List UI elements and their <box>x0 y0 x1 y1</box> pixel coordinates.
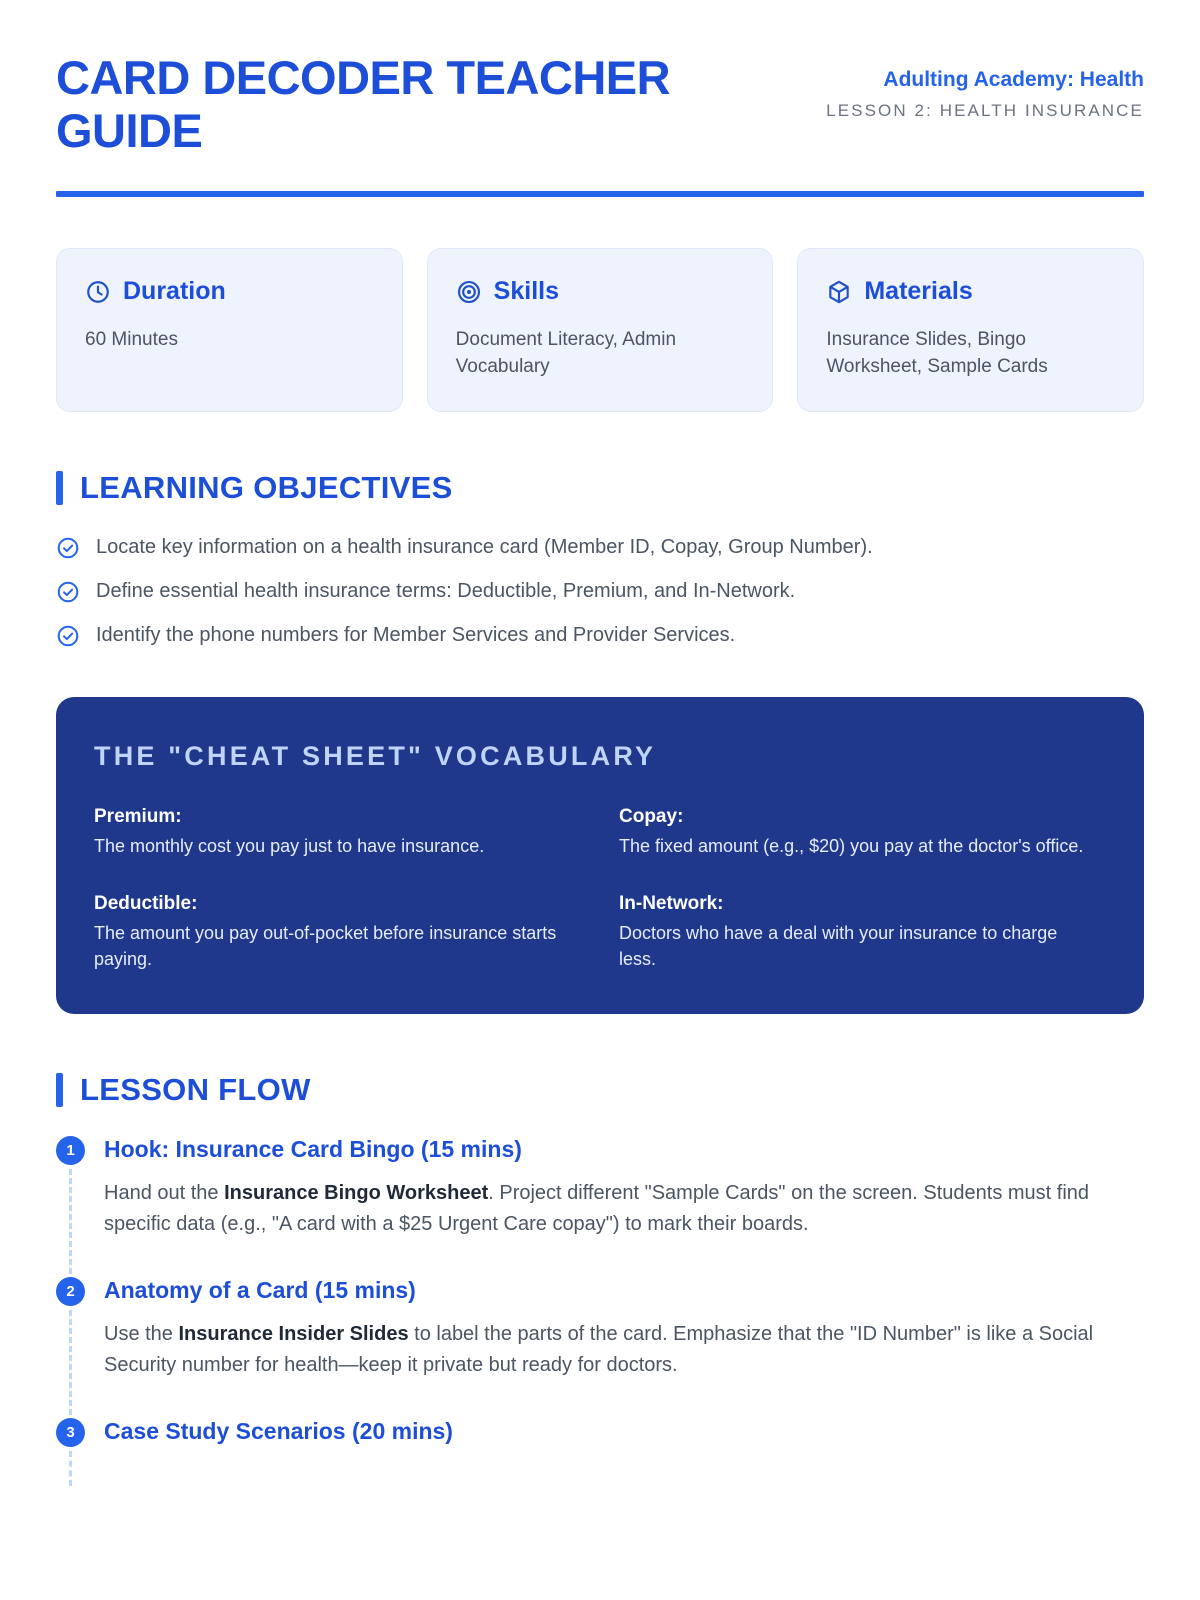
vocabulary-entry: Premium: The monthly cost you pay just t… <box>94 806 581 859</box>
vocabulary-title: THE "CHEAT SHEET" VOCABULARY <box>94 741 1106 772</box>
info-card-header: Skills <box>456 277 745 306</box>
section-title: LESSON FLOW <box>80 1072 311 1108</box>
package-icon <box>826 279 852 305</box>
info-card-header: Materials <box>826 277 1115 306</box>
vocabulary-definition: Doctors who have a deal with your insura… <box>619 920 1089 972</box>
title-block: CARD DECODER TEACHER GUIDE <box>56 52 756 157</box>
list-item: Define essential health insurance terms:… <box>56 578 1144 605</box>
section-accent-bar <box>56 471 63 505</box>
vocabulary-card: THE "CHEAT SHEET" VOCABULARY Premium: Th… <box>56 697 1144 1014</box>
vocabulary-term: Premium: <box>94 806 581 828</box>
target-icon <box>456 279 482 305</box>
step-body: Use the Insurance Insider Slides to labe… <box>104 1319 1144 1381</box>
vocabulary-entry: Copay: The fixed amount (e.g., $20) you … <box>619 806 1106 859</box>
check-circle-icon <box>56 624 80 648</box>
flow-step: 1 Hook: Insurance Card Bingo (15 mins) H… <box>56 1135 1144 1276</box>
vocabulary-term: Copay: <box>619 806 1106 828</box>
vocabulary-grid: Premium: The monthly cost you pay just t… <box>94 806 1106 972</box>
step-connector-line <box>69 1310 72 1415</box>
vocabulary-definition: The monthly cost you pay just to have in… <box>94 833 564 859</box>
objectives-list: Locate key information on a health insur… <box>56 534 1144 649</box>
vocabulary-term: Deductible: <box>94 893 581 915</box>
objective-text: Define essential health insurance terms:… <box>96 578 795 605</box>
vocabulary-entry: In-Network: Doctors who have a deal with… <box>619 893 1106 972</box>
step-body: Hand out the Insurance Bingo Worksheet. … <box>104 1178 1144 1240</box>
page-header: CARD DECODER TEACHER GUIDE Adulting Acad… <box>56 52 1144 157</box>
step-title: Case Study Scenarios (20 mins) <box>104 1417 1144 1446</box>
objective-text: Locate key information on a health insur… <box>96 534 873 561</box>
teacher-guide-page: CARD DECODER TEACHER GUIDE Adulting Acad… <box>0 0 1200 1600</box>
vocabulary-entry: Deductible: The amount you pay out-of-po… <box>94 893 581 972</box>
info-card-body: Insurance Slides, Bingo Worksheet, Sampl… <box>826 327 1115 381</box>
flow-step: 3 Case Study Scenarios (20 mins) <box>56 1417 1144 1446</box>
info-card-body: 60 Minutes <box>85 327 374 354</box>
objective-text: Identify the phone numbers for Member Se… <box>96 622 735 649</box>
lesson-subtitle: LESSON 2: HEALTH INSURANCE <box>814 98 1144 124</box>
section-accent-bar <box>56 1073 63 1107</box>
section-heading-lesson-flow: LESSON FLOW <box>56 1072 1144 1108</box>
header-meta: Adulting Academy: Health LESSON 2: HEALT… <box>814 52 1144 124</box>
step-number-badge: 1 <box>56 1136 85 1165</box>
step-title: Anatomy of a Card (15 mins) <box>104 1276 1144 1305</box>
flow-step: 2 Anatomy of a Card (15 mins) Use the In… <box>56 1276 1144 1417</box>
check-circle-icon <box>56 536 80 560</box>
list-item: Locate key information on a health insur… <box>56 534 1144 561</box>
lesson-flow-list: 1 Hook: Insurance Card Bingo (15 mins) H… <box>56 1135 1144 1445</box>
course-name: Adulting Academy: Health <box>814 66 1144 93</box>
list-item: Identify the phone numbers for Member Se… <box>56 622 1144 649</box>
info-card-materials: Materials Insurance Slides, Bingo Worksh… <box>797 248 1144 412</box>
section-title: LEARNING OBJECTIVES <box>80 470 453 506</box>
step-number-badge: 3 <box>56 1418 85 1447</box>
info-card-header: Duration <box>85 277 374 306</box>
info-card-row: Duration 60 Minutes Skills Document Lite… <box>56 248 1144 412</box>
info-card-body: Document Literacy, Admin Vocabulary <box>456 327 745 381</box>
clock-icon <box>85 279 111 305</box>
page-title: CARD DECODER TEACHER GUIDE <box>56 52 756 157</box>
vocabulary-definition: The amount you pay out-of-pocket before … <box>94 920 564 972</box>
vocabulary-definition: The fixed amount (e.g., $20) you pay at … <box>619 833 1089 859</box>
step-title: Hook: Insurance Card Bingo (15 mins) <box>104 1135 1144 1164</box>
step-connector-line <box>69 1169 72 1274</box>
info-card-title: Skills <box>494 277 559 306</box>
header-divider <box>56 191 1144 197</box>
check-circle-icon <box>56 580 80 604</box>
info-card-title: Duration <box>123 277 226 306</box>
step-connector-line <box>69 1451 72 1486</box>
info-card-duration: Duration 60 Minutes <box>56 248 403 412</box>
info-card-title: Materials <box>864 277 972 306</box>
info-card-skills: Skills Document Literacy, Admin Vocabula… <box>427 248 774 412</box>
section-heading-objectives: LEARNING OBJECTIVES <box>56 470 1144 506</box>
vocabulary-term: In-Network: <box>619 893 1106 915</box>
step-number-badge: 2 <box>56 1277 85 1306</box>
